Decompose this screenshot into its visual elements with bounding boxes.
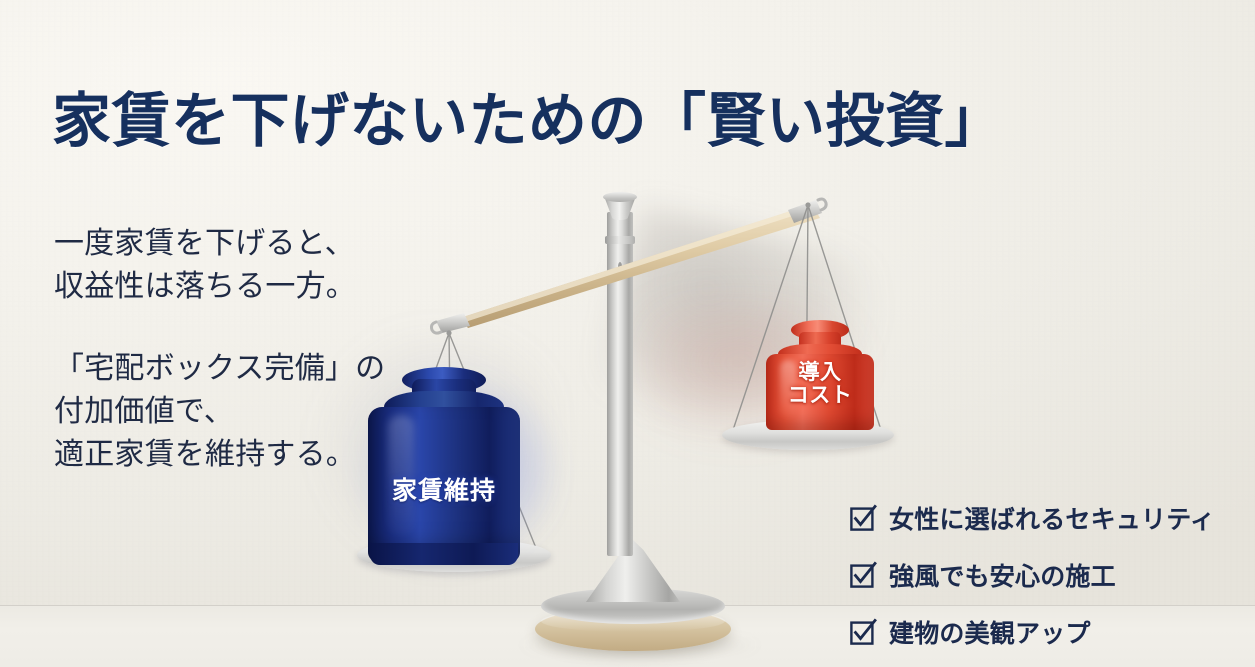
checkbox-checked-icon (850, 505, 876, 531)
red-weight-label: 導入 コスト (766, 362, 874, 407)
promo-banner: 家賃維持 導入 コスト 家賃を下げないための「賢い投資」 一度家賃を下げると、 … (0, 0, 1255, 667)
list-item: 建物の美観アップ (850, 614, 1215, 650)
lead-paragraph: 一度家賃を下げると、 収益性は落ちる一方。 (54, 223, 356, 309)
weight-blue-rent-maintenance: 家賃維持 (368, 367, 520, 562)
scale-beam (430, 196, 822, 328)
checklist-item-label: 建物の美観アップ (889, 614, 1091, 650)
benefits-checklist: 女性に選ばれるセキュリティ 強風でも安心の施工 建物の美観アップ (850, 500, 1215, 650)
checklist-item-label: 女性に選ばれるセキュリティ (889, 500, 1215, 536)
sub-paragraph: 「宅配ボックス完備」の 付加価値で、 適正家賃を維持する。 (54, 348, 385, 477)
checkbox-checked-icon (850, 562, 876, 588)
scale-base-cone (586, 540, 680, 602)
checklist-item-label: 強風でも安心の施工 (889, 557, 1116, 593)
page-title: 家賃を下げないための「賢い投資」 (52, 92, 1004, 151)
blue-weight-label: 家賃維持 (368, 471, 520, 507)
list-item: 強風でも安心の施工 (850, 557, 1215, 593)
list-item: 女性に選ばれるセキュリティ (850, 500, 1215, 536)
weight-red-introduction-cost: 導入 コスト (766, 318, 874, 430)
blue-weight-base (370, 543, 518, 565)
checkbox-checked-icon (850, 619, 876, 645)
